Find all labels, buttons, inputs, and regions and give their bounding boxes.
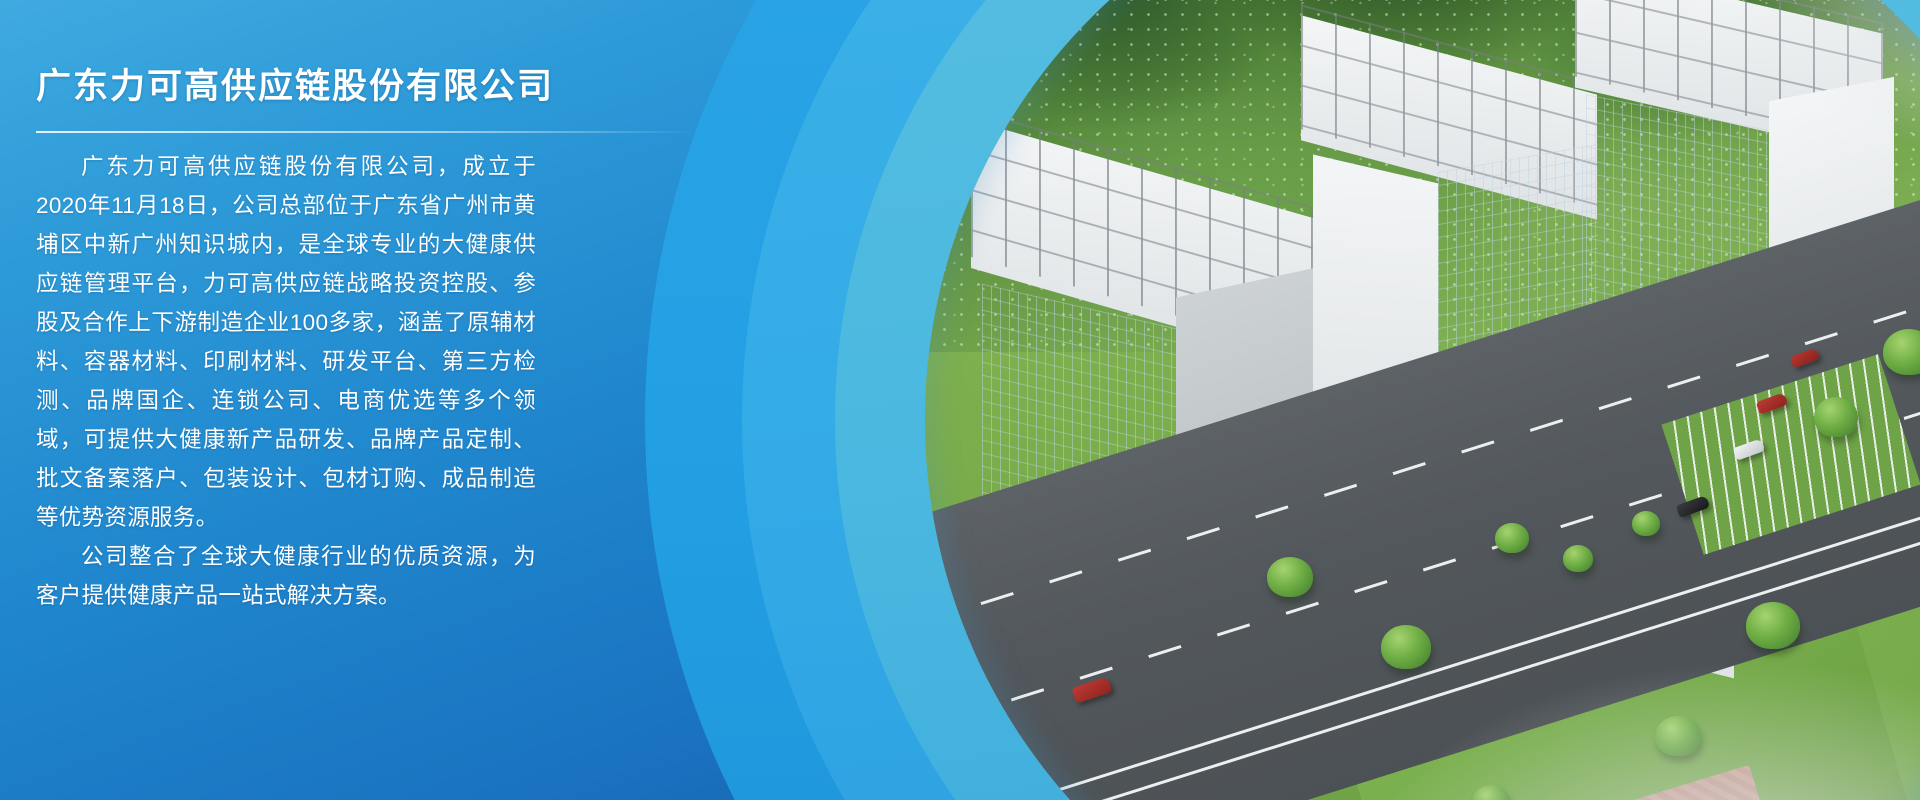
- company-paragraph-2: 公司整合了全球大健康行业的优质资源，为客户提供健康产品一站式解决方案。: [36, 537, 536, 615]
- company-description: 广东力可高供应链股份有限公司，成立于2020年11月18日，公司总部位于广东省广…: [36, 147, 536, 615]
- company-paragraph-1: 广东力可高供应链股份有限公司，成立于2020年11月18日，公司总部位于广东省广…: [36, 147, 536, 537]
- industrial-park-photo: [925, 0, 1920, 800]
- company-text-column: 广东力可高供应链股份有限公司 广东力可高供应链股份有限公司，成立于2020年11…: [0, 0, 620, 800]
- company-profile-banner: 广东力可高供应链股份有限公司 广东力可高供应链股份有限公司，成立于2020年11…: [0, 0, 1920, 800]
- page-title: 广东力可高供应链股份有限公司: [36, 58, 620, 109]
- title-divider: [36, 131, 696, 133]
- photo-disc-edge-glow: [925, 0, 1920, 800]
